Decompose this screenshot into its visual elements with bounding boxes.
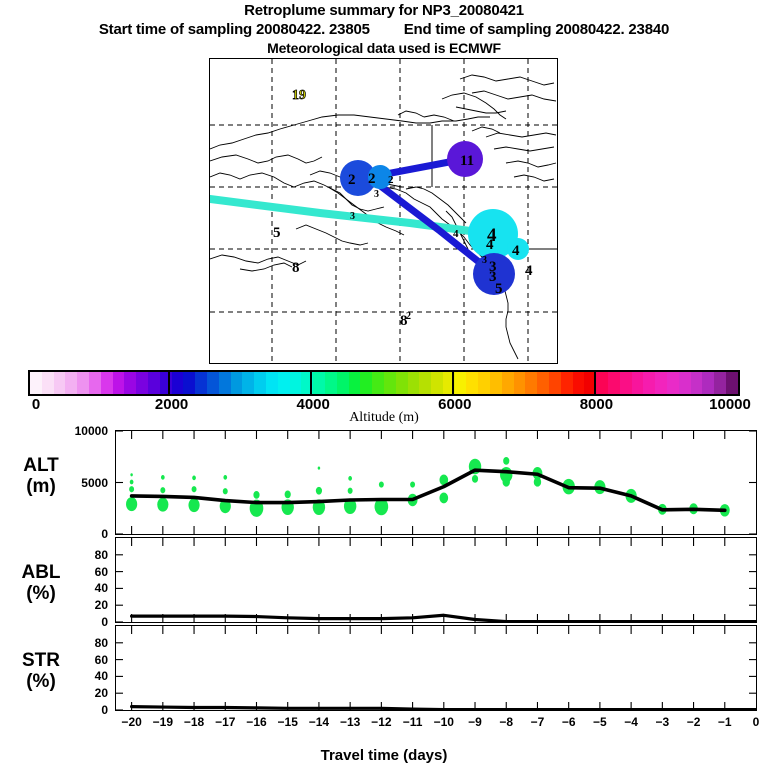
colorbar-axis-title: Altitude (m): [0, 410, 768, 426]
colorbar-swatch-48: [596, 372, 608, 394]
colorbar-swatch-34: [431, 372, 443, 394]
colorbar-swatch-20: [266, 372, 278, 394]
x-tick--16: −16: [246, 715, 266, 729]
start-time-label: Start time of sampling 20080422. 23805: [99, 20, 370, 39]
colorbar-swatch-49: [608, 372, 620, 394]
colorbar-swatch-31: [396, 372, 408, 394]
colorbar-swatch-24: [313, 372, 325, 394]
colorbar-swatch-21: [278, 372, 290, 394]
colorbar-swatch-55: [679, 372, 691, 394]
colorbar-swatch-6: [101, 372, 113, 394]
str-y-tick-60: 60: [40, 653, 108, 667]
x-tick--19: −19: [153, 715, 173, 729]
x-tick--9: −9: [468, 715, 482, 729]
abl-y-tick-80: 80: [40, 548, 108, 562]
colorbar-swatch-7: [113, 372, 125, 394]
end-time-label: End time of sampling 20080422. 23840: [404, 20, 669, 39]
svg-text:2: 2: [348, 172, 356, 188]
abl-plot-panel[interactable]: [115, 537, 757, 623]
abl-y-tick-60: 60: [40, 565, 108, 579]
abl-svg-x-ticks: [132, 538, 725, 622]
colorbar-swatch-22: [290, 372, 302, 394]
str-svg-x-ticks: [132, 626, 725, 710]
map-graticule: [210, 59, 557, 363]
str-y-tick-80: 80: [40, 636, 108, 650]
colorbar-swatch-52: [643, 372, 655, 394]
colorbar-swatch-40: [502, 372, 514, 394]
colorbar-swatch-16: [219, 372, 231, 394]
altitude-colorbar[interactable]: [28, 370, 740, 396]
x-tick--7: −7: [531, 715, 545, 729]
x-tick--8: −8: [499, 715, 513, 729]
colorbar-swatch-14: [195, 372, 207, 394]
x-tick--11: −11: [403, 715, 423, 729]
alt-svg-x-ticks: [132, 431, 725, 534]
abl-svg-y-ticks: [116, 555, 756, 622]
svg-text:5: 5: [495, 281, 503, 297]
colorbar-swatch-15: [207, 372, 219, 394]
svg-text:2: 2: [388, 174, 394, 186]
svg-text:4: 4: [512, 243, 520, 259]
x-tick--3: −3: [655, 715, 669, 729]
x-tick--18: −18: [184, 715, 204, 729]
str-y-tick-40: 40: [40, 669, 108, 683]
svg-text:2: 2: [368, 171, 376, 187]
colorbar-swatch-56: [691, 372, 703, 394]
svg-text:11: 11: [460, 153, 474, 169]
colorbar-swatch-32: [408, 372, 420, 394]
colorbar-swatch-45: [561, 372, 573, 394]
svg-text:2: 2: [406, 311, 411, 322]
figure-title-block: Retroplume summary for NP3_20080421 Star…: [0, 2, 768, 57]
colorbar-swatch-36: [455, 372, 467, 394]
map-canvas: 11 2 2 2 4 4 4 4 3 3 5 5 8 4 8 2 3 3 3 1…: [210, 59, 557, 363]
colorbar-swatch-4: [77, 372, 89, 394]
svg-text:3: 3: [482, 255, 487, 266]
colorbar-swatch-28: [360, 372, 372, 394]
colorbar-swatch-57: [702, 372, 714, 394]
colorbar-swatch-0: [30, 372, 42, 394]
colorbar-swatch-33: [419, 372, 431, 394]
alt-svg-scatter-markers: [126, 457, 730, 517]
abl-y-tick-0: 0: [40, 615, 108, 629]
x-tick--13: −13: [340, 715, 360, 729]
x-axis-tick-labels: −20−19−18−17−16−15−14−13−12−11−10−9−8−7−…: [0, 715, 768, 735]
colorbar-gradient: [28, 370, 740, 396]
colorbar-swatch-25: [325, 372, 337, 394]
colorbar-swatch-39: [490, 372, 502, 394]
colorbar-swatch-54: [667, 372, 679, 394]
x-tick--12: −12: [371, 715, 391, 729]
x-tick--6: −6: [562, 715, 576, 729]
colorbar-swatch-9: [136, 372, 148, 394]
svg-text:4: 4: [525, 263, 533, 279]
alt-y-tick-10000: 10000: [40, 424, 108, 438]
colorbar-swatch-51: [632, 372, 644, 394]
colorbar-swatch-17: [231, 372, 243, 394]
x-tick--5: −5: [593, 715, 607, 729]
str-plot-panel[interactable]: [115, 625, 757, 711]
colorbar-divider-8000: [594, 370, 596, 396]
svg-text:4: 4: [453, 228, 459, 240]
map-label-19-outline: 19: [292, 88, 306, 103]
sampling-time-row: Start time of sampling 20080422. 23805 E…: [0, 20, 768, 39]
colorbar-swatch-18: [242, 372, 254, 394]
abl-y-tick-20: 20: [40, 598, 108, 612]
colorbar-swatch-38: [478, 372, 490, 394]
x-tick--14: −14: [309, 715, 329, 729]
abl-y-tick-40: 40: [40, 581, 108, 595]
colorbar-swatch-50: [620, 372, 632, 394]
x-axis-title: Travel time (days): [0, 747, 768, 764]
colorbar-swatch-1: [42, 372, 54, 394]
colorbar-swatch-29: [372, 372, 384, 394]
colorbar-divider-4000: [310, 370, 312, 396]
colorbar-swatch-43: [537, 372, 549, 394]
svg-text:8: 8: [292, 260, 300, 276]
alt-axis-label-line1: ALT: [6, 455, 76, 476]
str-y-tick-20: 20: [40, 686, 108, 700]
x-tick--15: −15: [278, 715, 298, 729]
svg-text:3: 3: [374, 189, 379, 200]
map-marker-labels: 11 2 2 2 4 4 4 4 3 3 5 5 8 4 8 2 3 3 3: [273, 153, 533, 329]
colorbar-swatch-42: [525, 372, 537, 394]
svg-text:3: 3: [350, 211, 355, 222]
x-tick--17: −17: [215, 715, 235, 729]
x-tick--4: −4: [624, 715, 638, 729]
colorbar-swatch-26: [337, 372, 349, 394]
colorbar-swatch-10: [148, 372, 160, 394]
colorbar-swatch-37: [466, 372, 478, 394]
colorbar-swatch-59: [726, 372, 738, 394]
figure-main-title: Retroplume summary for NP3_20080421: [0, 2, 768, 20]
svg-text:5: 5: [273, 225, 281, 241]
colorbar-swatch-12: [172, 372, 184, 394]
alt-svg-y-ticks: [116, 431, 756, 534]
colorbar-swatch-27: [349, 372, 361, 394]
x-tick--10: −10: [434, 715, 454, 729]
x-tick--20: −20: [121, 715, 141, 729]
colorbar-swatch-53: [655, 372, 667, 394]
str-plot-canvas: [116, 626, 756, 710]
colorbar-swatch-46: [573, 372, 585, 394]
str-svg-y-ticks: [116, 643, 756, 710]
colorbar-swatch-58: [714, 372, 726, 394]
colorbar-swatch-41: [514, 372, 526, 394]
colorbar-swatch-30: [384, 372, 396, 394]
colorbar-divider-6000: [452, 370, 454, 396]
x-tick--1: −1: [718, 715, 732, 729]
alt-y-tick-0: 0: [40, 527, 108, 541]
abl-plot-canvas: [116, 538, 756, 622]
colorbar-swatch-19: [254, 372, 266, 394]
svg-text:4: 4: [486, 237, 494, 253]
x-tick-0: 0: [753, 715, 760, 729]
colorbar-swatch-2: [54, 372, 66, 394]
alt-plot-canvas: [116, 431, 756, 534]
colorbar-swatch-3: [65, 372, 77, 394]
retroplume-map[interactable]: 11 2 2 2 4 4 4 4 3 3 5 5 8 4 8 2 3 3 3 1…: [209, 58, 558, 364]
colorbar-swatch-8: [124, 372, 136, 394]
x-tick--2: −2: [687, 715, 701, 729]
colorbar-swatch-5: [89, 372, 101, 394]
colorbar-divider-2000: [168, 370, 170, 396]
colorbar-swatch-44: [549, 372, 561, 394]
alt-y-tick-5000: 5000: [40, 476, 108, 490]
met-data-label: Meteorological data used is ECMWF: [0, 39, 768, 57]
alt-plot-panel[interactable]: [115, 430, 757, 535]
colorbar-swatch-13: [183, 372, 195, 394]
